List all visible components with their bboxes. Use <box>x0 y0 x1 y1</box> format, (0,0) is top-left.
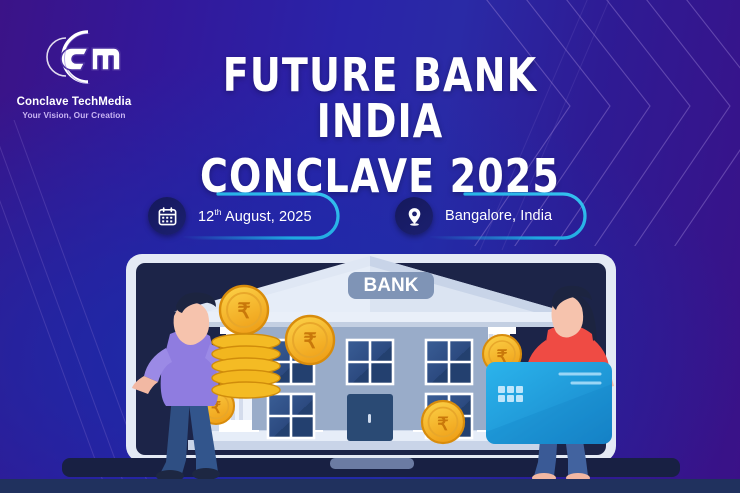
ground-strip <box>0 479 740 493</box>
svg-text:₹: ₹ <box>237 300 250 323</box>
credit-card <box>486 362 612 444</box>
event-banner: Conclave TechMedia Your Vision, Our Crea… <box>0 0 740 493</box>
illustration-svg: BANK ₹ ₹ ₹ ₹ <box>0 244 740 493</box>
svg-text:₹: ₹ <box>437 414 449 434</box>
title-line-1: FUTURE BANK INDIA <box>159 52 601 144</box>
map-pin-icon <box>395 197 433 235</box>
calendar-icon <box>148 197 186 235</box>
logo-company-name: Conclave TechMedia <box>14 96 134 108</box>
event-location-text: Bangalore, India <box>445 208 552 224</box>
brand-logo: Conclave TechMedia Your Vision, Our Crea… <box>14 26 134 120</box>
logo-mark-icon <box>26 26 122 88</box>
date-ordinal: th <box>214 207 221 217</box>
date-day: 12 <box>198 209 214 225</box>
event-title: FUTURE BANK INDIA CONCLAVE 2025 <box>140 52 620 199</box>
event-meta-pills: 12th August, 2025 <box>148 190 618 242</box>
event-location-pill: Bangalore, India <box>395 190 552 242</box>
bank-illustration: BANK ₹ ₹ ₹ ₹ <box>0 244 740 493</box>
event-date-pill: 12th August, 2025 <box>148 190 312 242</box>
logo-tagline: Your Vision, Our Creation <box>14 110 134 120</box>
date-month-year: August, 2025 <box>222 209 312 225</box>
svg-text:₹: ₹ <box>303 330 316 353</box>
bank-sign-label: BANK <box>364 275 419 296</box>
event-date-text: 12th August, 2025 <box>198 207 312 225</box>
